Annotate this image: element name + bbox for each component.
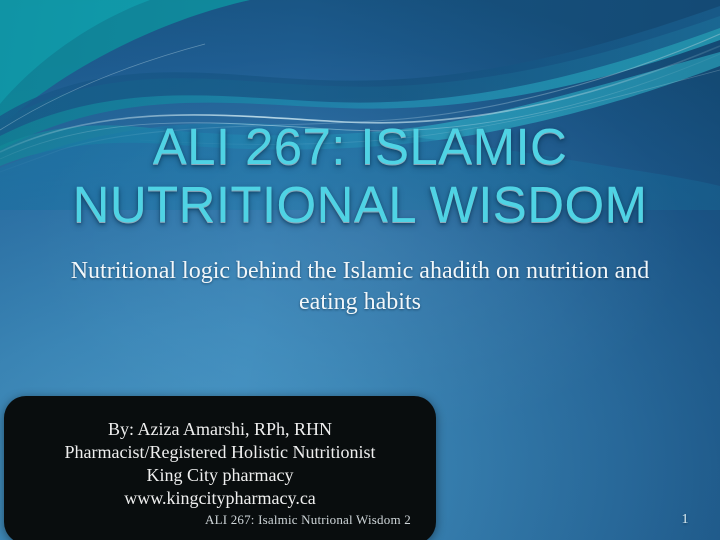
presenter-info-text: By: Aziza Amarshi, RPh, RHN Pharmacist/R… <box>4 418 436 510</box>
slide-title: ALI 267: ISLAMIC NUTRITIONAL WISDOM <box>0 118 720 234</box>
title-line-2: NUTRITIONAL WISDOM <box>0 176 720 234</box>
presenter-line-website[interactable]: www.kingcitypharmacy.ca <box>4 487 436 510</box>
presenter-line-organization: King City pharmacy <box>4 464 436 487</box>
presentation-slide: ALI 267: ISLAMIC NUTRITIONAL WISDOM Nutr… <box>0 0 720 540</box>
presenter-line-role: Pharmacist/Registered Holistic Nutrition… <box>4 441 436 464</box>
presenter-line-name: By: Aziza Amarshi, RPh, RHN <box>4 418 436 441</box>
slide-subtitle: Nutritional logic behind the Islamic aha… <box>60 256 660 318</box>
slide-footer-note: ALI 267: Isalmic Nutrional Wisdom 2 <box>205 512 505 528</box>
slide-page-number: 1 <box>670 511 700 529</box>
title-line-1: ALI 267: ISLAMIC <box>0 118 720 176</box>
